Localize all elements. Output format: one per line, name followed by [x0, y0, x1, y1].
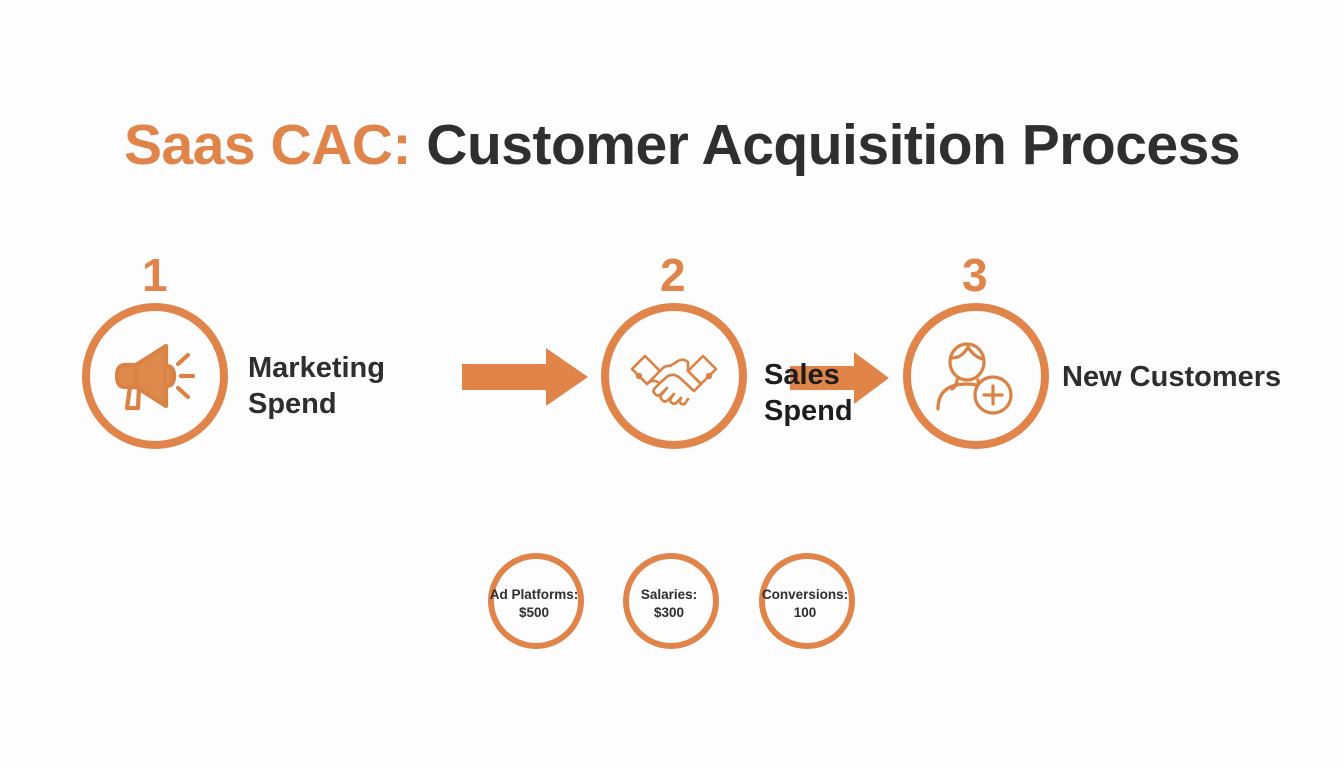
arrow-2-label: Sales Spend [764, 358, 853, 430]
step-2-circle[interactable] [601, 303, 747, 449]
step-1-circle[interactable] [82, 303, 228, 449]
step-1-label: Marketing Spend [248, 351, 385, 423]
slide-canvas: Saas CAC: Customer Acquisition Process 1… [0, 0, 1344, 768]
arrow-1-icon [462, 348, 588, 406]
step-1-number: 1 [142, 252, 168, 298]
step-3-circle[interactable] [903, 303, 1049, 449]
add-user-icon [934, 336, 1018, 416]
step-3-number: 3 [962, 252, 988, 298]
title-rest: Customer Acquisition Process [426, 113, 1240, 177]
step-2-number: 2 [660, 252, 686, 298]
step-3-label: New Customers [1062, 360, 1281, 396]
megaphone-icon [112, 338, 198, 414]
metric-label-conversions: Conversions: 100 [725, 586, 885, 621]
handshake-icon [628, 343, 720, 409]
page-title: Saas CAC: Customer Acquisition Process [124, 116, 1240, 176]
title-accent: Saas CAC: [124, 113, 411, 177]
